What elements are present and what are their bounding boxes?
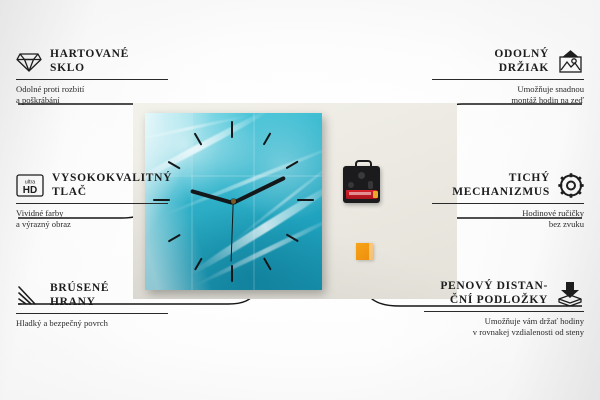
feature-ground-edges: BRÚSENÉ HRANY Hladký a bezpečný povrch [16, 282, 168, 329]
ground-edges-icon [16, 285, 42, 307]
feature-subtitle: Odolné proti rozbití a poškrábání [16, 84, 168, 105]
divider [432, 79, 584, 80]
photo-vignette [133, 103, 457, 299]
feature-title: BRÚSENÉ HRANY [50, 282, 109, 309]
divider [16, 313, 168, 314]
feature-subtitle: Hodinové ručičky bez zvuku [432, 208, 584, 229]
feature-durable-holder: ODOLNÝ DRŽIAK Umožňuje snadnou montáž ho… [432, 48, 584, 105]
diamond-icon [16, 51, 42, 73]
feature-title: HARTOVANÉ SKLO [50, 48, 129, 75]
feature-subtitle: Umožňuje vám držať hodiny v rovnakej vzd… [424, 316, 584, 337]
divider [432, 203, 584, 204]
feature-title: TICHÝ MECHANIZMUS [452, 172, 550, 199]
feature-title: ODOLNÝ DRŽIAK [494, 48, 549, 75]
feature-title: PENOVÝ DISTAN- ČNÍ PODLOŽKY [440, 280, 548, 307]
foam-pad-arrow-icon [556, 281, 584, 307]
feature-foam-spacers: PENOVÝ DISTAN- ČNÍ PODLOŽKY Umožňuje vám… [424, 280, 584, 337]
svg-text:HD: HD [23, 185, 37, 196]
gear-icon [558, 173, 584, 198]
infographic-canvas: HARTOVANÉ SKLO Odolné proti rozbití a po… [0, 0, 600, 400]
ultra-hd-badge-icon: ultra HD [16, 174, 44, 197]
wall-frame-hanger-icon [557, 50, 584, 74]
feature-silent-mechanism: TICHÝ MECHANIZMUS Hodinové [432, 172, 584, 229]
feature-tempered-glass: HARTOVANÉ SKLO Odolné proti rozbití a po… [16, 48, 168, 105]
feature-subtitle: Hladký a bezpečný povrch [16, 318, 168, 329]
feature-subtitle: Vividné farby a výrazný obraz [16, 208, 168, 229]
feature-title: VYSOKOKVALITNÝ TLAČ [52, 172, 172, 199]
feature-high-quality-print: ultra HD VYSOKOKVALITNÝ TLAČ Vividné far… [16, 172, 168, 229]
feature-subtitle: Umožňuje snadnou montáž hodin na zeď [432, 84, 584, 105]
product-photo [133, 103, 457, 299]
divider [16, 203, 168, 204]
divider [424, 311, 584, 312]
divider [16, 79, 168, 80]
